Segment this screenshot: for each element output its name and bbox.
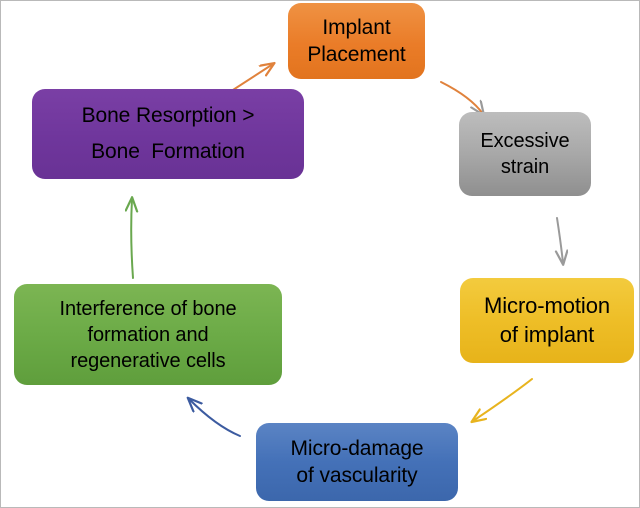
node-implant-placement[interactable]: ImplantPlacement: [288, 3, 425, 79]
node-implant-placement-label: ImplantPlacement: [294, 14, 419, 69]
node-excessive-strain-label: Excessivestrain: [465, 128, 585, 180]
node-micro-damage-of-vascularity[interactable]: Micro-damageof vascularity: [256, 423, 458, 501]
node-interference-of-bone-formation[interactable]: Interference of boneformation andregener…: [14, 284, 282, 385]
node-micro-motion-of-implant-label: Micro-motionof implant: [466, 292, 628, 349]
node-bone-resorption-greater-than-formation[interactable]: Bone Resorption >Bone Formation: [32, 89, 304, 179]
arrow-strain-to-micromotion: [557, 218, 563, 263]
arrow-implant-to-strain: [441, 82, 483, 114]
node-bone-resorption-label: Bone Resorption >Bone Formation: [38, 98, 298, 170]
node-excessive-strain[interactable]: Excessivestrain: [459, 112, 591, 196]
node-interference-of-bone-formation-label: Interference of boneformation andregener…: [20, 296, 276, 374]
arrow-microdamage-to-interference: [189, 399, 240, 436]
arrow-interference-to-resorption: [131, 199, 133, 278]
node-micro-damage-of-vascularity-label: Micro-damageof vascularity: [262, 435, 452, 490]
arrow-micromotion-to-microdamage: [473, 379, 532, 421]
node-micro-motion-of-implant[interactable]: Micro-motionof implant: [460, 278, 634, 363]
diagram-canvas: ImplantPlacement Excessivestrain Micro-m…: [0, 0, 640, 508]
